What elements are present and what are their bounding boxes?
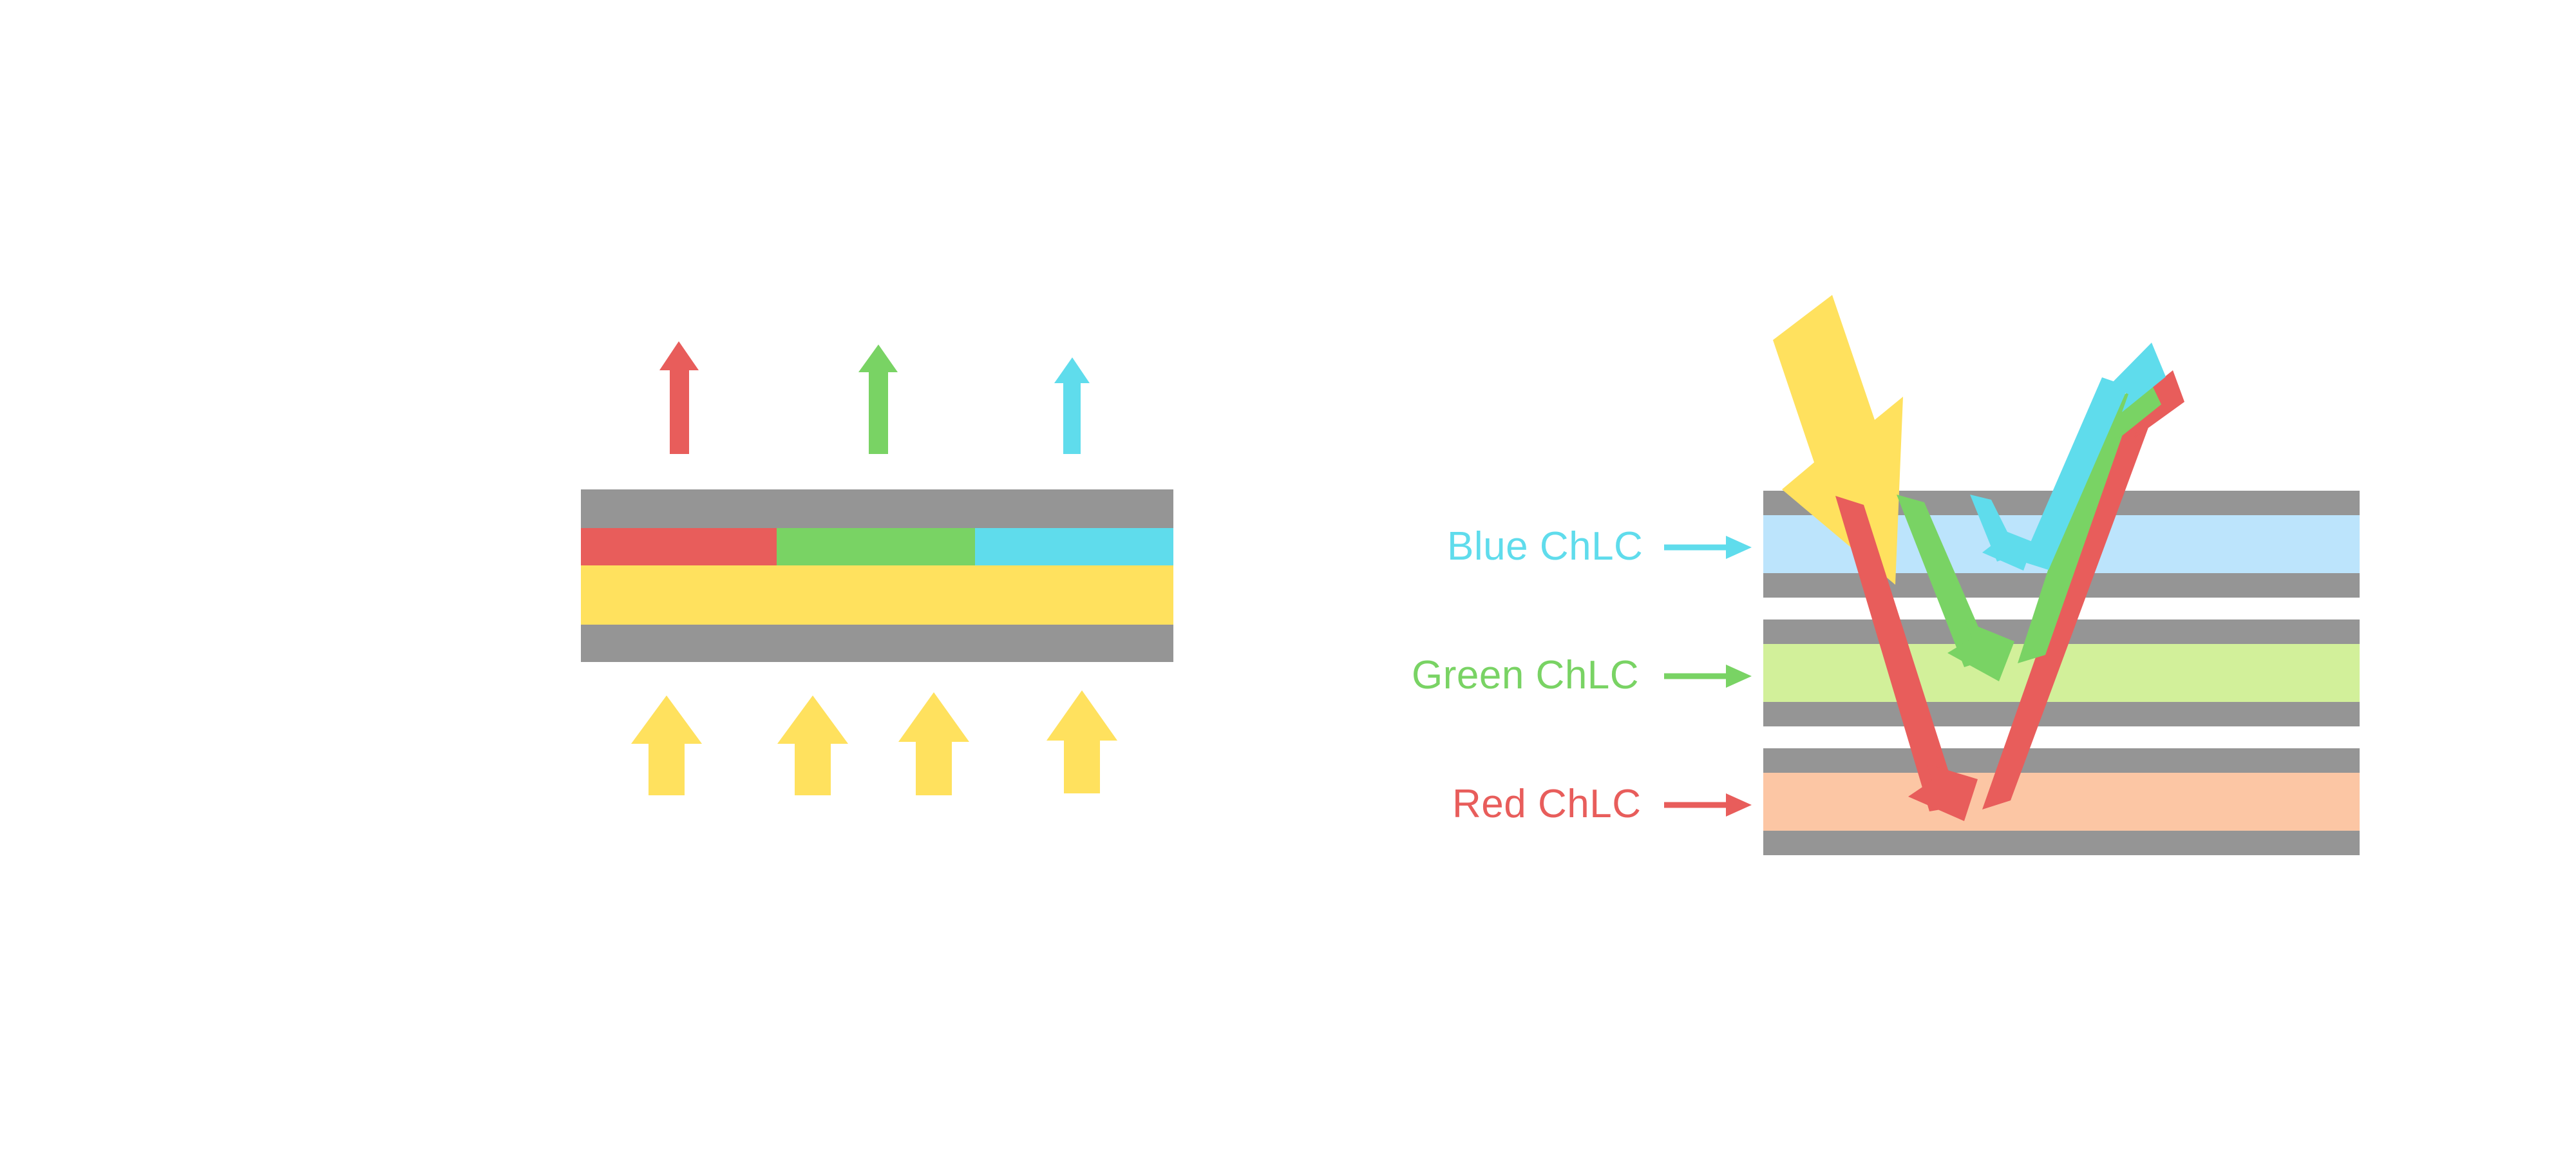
- blue-label-pointer-icon: [1664, 536, 1752, 559]
- label-red-chlc: Red ChLC: [1452, 782, 1752, 826]
- red-emission-arrow: [659, 341, 699, 454]
- label-green-chlc: Green ChLC: [1412, 653, 1752, 697]
- label-blue-chlc-text: Blue ChLC: [1447, 524, 1643, 569]
- blue-emission-arrow: [1054, 357, 1090, 454]
- red-top-substrate: [1763, 748, 2360, 773]
- red-chlc-group: [1763, 748, 2360, 855]
- backlight-arrow: [631, 695, 702, 795]
- red-bottom-substrate: [1763, 831, 2360, 855]
- green-filter-segment: [777, 528, 975, 565]
- figure-canvas: Blue ChLC Green ChLC Red ChLC: [0, 0, 2576, 1154]
- chlc-display-diagram: Blue ChLC Green ChLC Red ChLC: [0, 0, 2576, 1154]
- emissive-stack-panel: [581, 341, 1173, 795]
- backlight-arrow: [1046, 690, 1117, 793]
- backlight-arrow: [777, 695, 848, 795]
- red-label-pointer-icon: [1664, 793, 1752, 817]
- label-blue-chlc: Blue ChLC: [1447, 524, 1752, 569]
- blue-filter-segment: [975, 528, 1173, 565]
- backlight-arrows: [631, 690, 1117, 795]
- green-bottom-substrate: [1763, 702, 2360, 726]
- red-chlc-layer: [1763, 773, 2360, 831]
- green-emission-arrow: [858, 345, 898, 454]
- chlc-reflective-stack-panel: Blue ChLC Green ChLC Red ChLC: [1412, 295, 2360, 855]
- red-filter-segment: [581, 528, 777, 565]
- backlight-layer: [581, 565, 1173, 625]
- top-electrode: [581, 489, 1173, 528]
- label-green-chlc-text: Green ChLC: [1412, 653, 1639, 697]
- backlight-arrow: [898, 692, 969, 795]
- green-label-pointer-icon: [1664, 665, 1752, 688]
- color-filter: [581, 528, 1173, 565]
- label-red-chlc-text: Red ChLC: [1452, 782, 1641, 826]
- bottom-electrode: [581, 625, 1173, 662]
